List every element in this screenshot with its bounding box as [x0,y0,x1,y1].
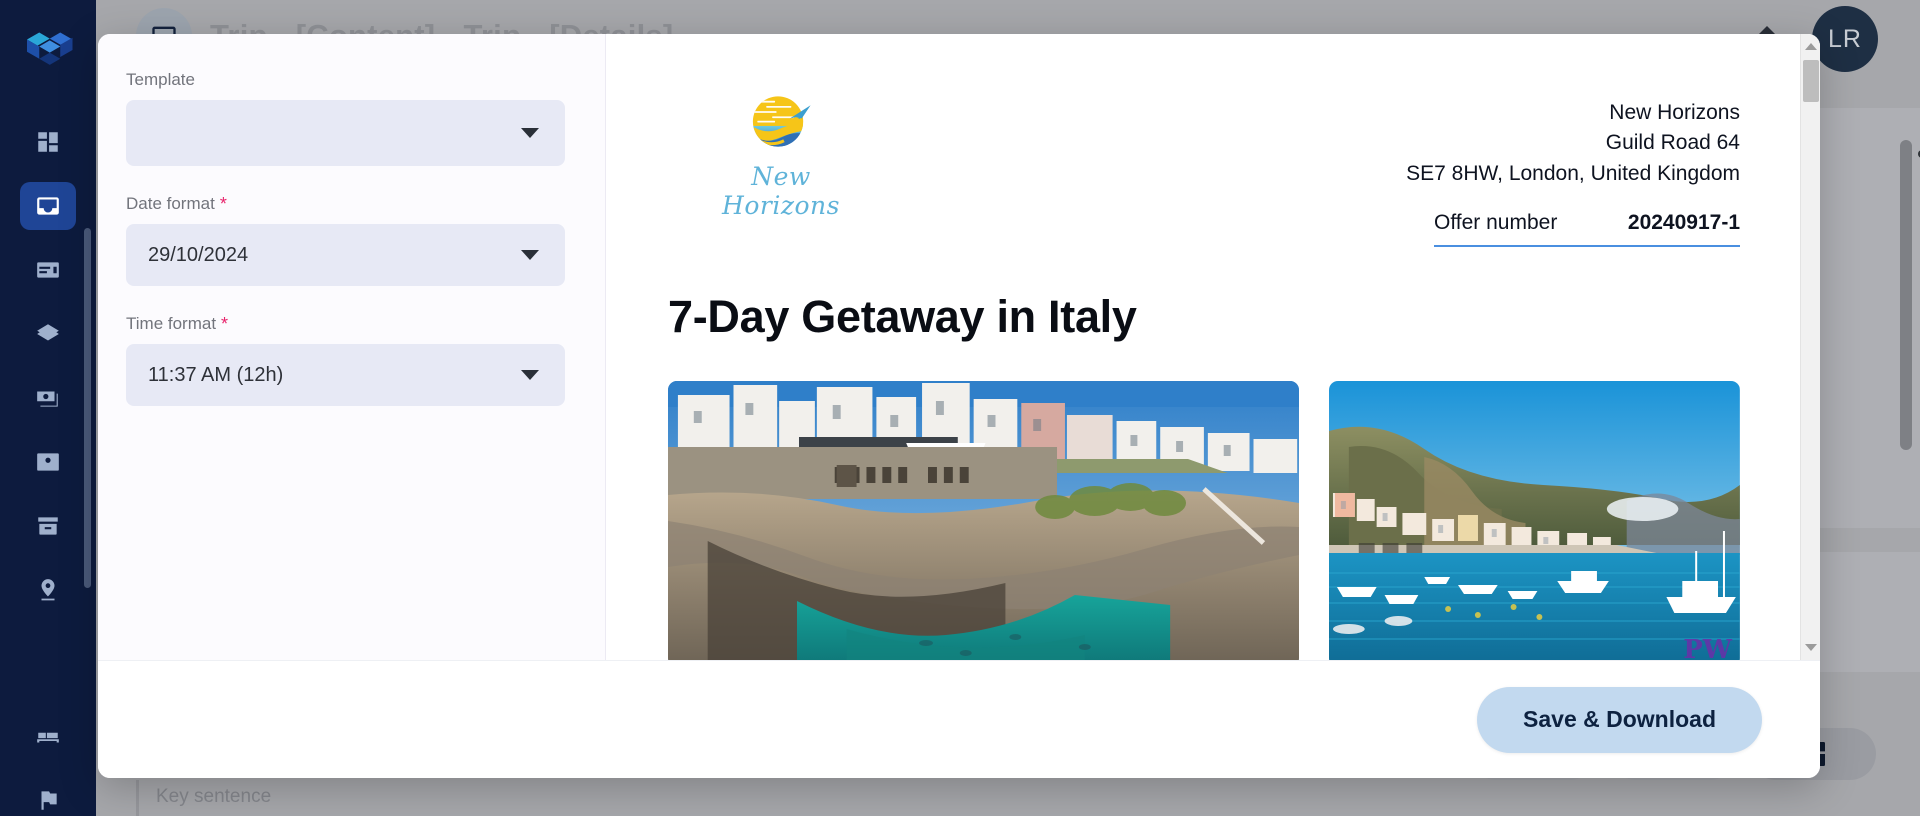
template-field: Template [126,70,565,166]
app-root: Trip - [Content] - Trip - [Details] LR K… [0,0,1920,816]
offer-number-label: Offer number [1434,211,1557,235]
photo-watermark: PW [1683,635,1732,660]
document-preview-panel[interactable]: New Horizons New Horizons Guild Road 64 … [606,34,1820,660]
modal-footer: Save & Download [98,660,1820,778]
address-line: Guild Road 64 [1406,128,1740,158]
date-format-value: 29/10/2024 [148,244,248,267]
offer-number-value: 20240917-1 [1628,211,1740,235]
inbox-icon [35,193,61,219]
sidebar-item-accommodation[interactable] [20,712,76,760]
company-address: New Horizons Guild Road 64 SE7 8HW, Lond… [1406,82,1740,247]
time-format-field: Time format * 11:37 AM (12h) [126,314,565,406]
page-scrollbar[interactable] [1900,140,1912,450]
bed-icon [35,723,61,749]
required-marker: * [221,315,228,333]
sidebar-items [0,118,96,816]
time-format-label-text: Time format [126,314,216,334]
cash-icon [35,385,61,411]
document-preview: New Horizons New Horizons Guild Road 64 … [606,34,1802,660]
template-label-text: Template [126,70,195,90]
offer-number-row: Offer number 20240917-1 [1434,211,1740,247]
date-format-label: Date format * [126,194,565,214]
scroll-up-arrow-icon[interactable] [1805,43,1817,50]
chevron-down-icon [521,128,539,138]
sidebar-item-bookings[interactable] [20,246,76,294]
address-line: SE7 8HW, London, United Kingdom [1406,159,1740,189]
template-label: Template [126,70,565,90]
time-format-label: Time format * [126,314,565,334]
date-format-label-text: Date format [126,194,215,214]
time-format-select[interactable]: 11:37 AM (12h) [126,344,565,406]
contact-card-icon [35,449,61,475]
sidebar-item-contacts[interactable] [20,438,76,486]
avatar[interactable]: LR [1812,6,1878,72]
template-select[interactable] [126,100,565,166]
chevron-down-icon [521,250,539,260]
address-line: New Horizons [1406,98,1740,128]
sun-ocean-plane-logo-icon [744,86,818,160]
brand-name: New Horizons [696,162,866,220]
key-sentence-input[interactable]: Key sentence [156,786,271,808]
map-pin-icon [35,577,61,603]
chevron-down-icon [521,370,539,380]
scrollbar-thumb[interactable] [1803,60,1819,102]
sidebar-item-reports[interactable] [20,776,76,816]
sidebar-item-products[interactable] [20,310,76,358]
sidebar-item-payments[interactable] [20,374,76,422]
settings-form-panel: Template Date format * 29/10/2024 [98,34,606,660]
scroll-down-arrow-icon[interactable] [1805,644,1817,651]
document-header: New Horizons New Horizons Guild Road 64 … [668,82,1740,247]
photo-cliffside-town [668,381,1299,660]
export-settings-modal: Template Date format * 29/10/2024 [98,34,1820,778]
dashboard-icon [35,129,61,155]
document-title: 7-Day Getaway in Italy [668,291,1740,343]
card-icon [35,257,61,283]
sidebar-item-destinations[interactable] [20,566,76,614]
save-and-download-button[interactable]: Save & Download [1477,687,1762,753]
photo-amalfi-harbour: PW [1329,381,1740,660]
sidebar-item-dashboard[interactable] [20,118,76,166]
preview-scrollbar[interactable] [1800,34,1820,660]
sidebar [0,0,96,816]
date-format-field: Date format * 29/10/2024 [126,194,565,286]
archive-icon [35,513,61,539]
time-format-value: 11:37 AM (12h) [148,364,283,387]
photo-row: PW [668,381,1740,660]
flag-icon [35,787,61,813]
modal-body: Template Date format * 29/10/2024 [98,34,1820,660]
sidebar-item-trips[interactable] [20,182,76,230]
sidebar-item-archive[interactable] [20,502,76,550]
key-sentence-divider [136,780,139,816]
brand-block: New Horizons [696,86,866,220]
app-logo[interactable] [20,22,76,78]
date-format-select[interactable]: 29/10/2024 [126,224,565,286]
required-marker: * [220,195,227,213]
layers-icon [35,321,61,347]
sidebar-scrollbar[interactable] [84,228,91,588]
